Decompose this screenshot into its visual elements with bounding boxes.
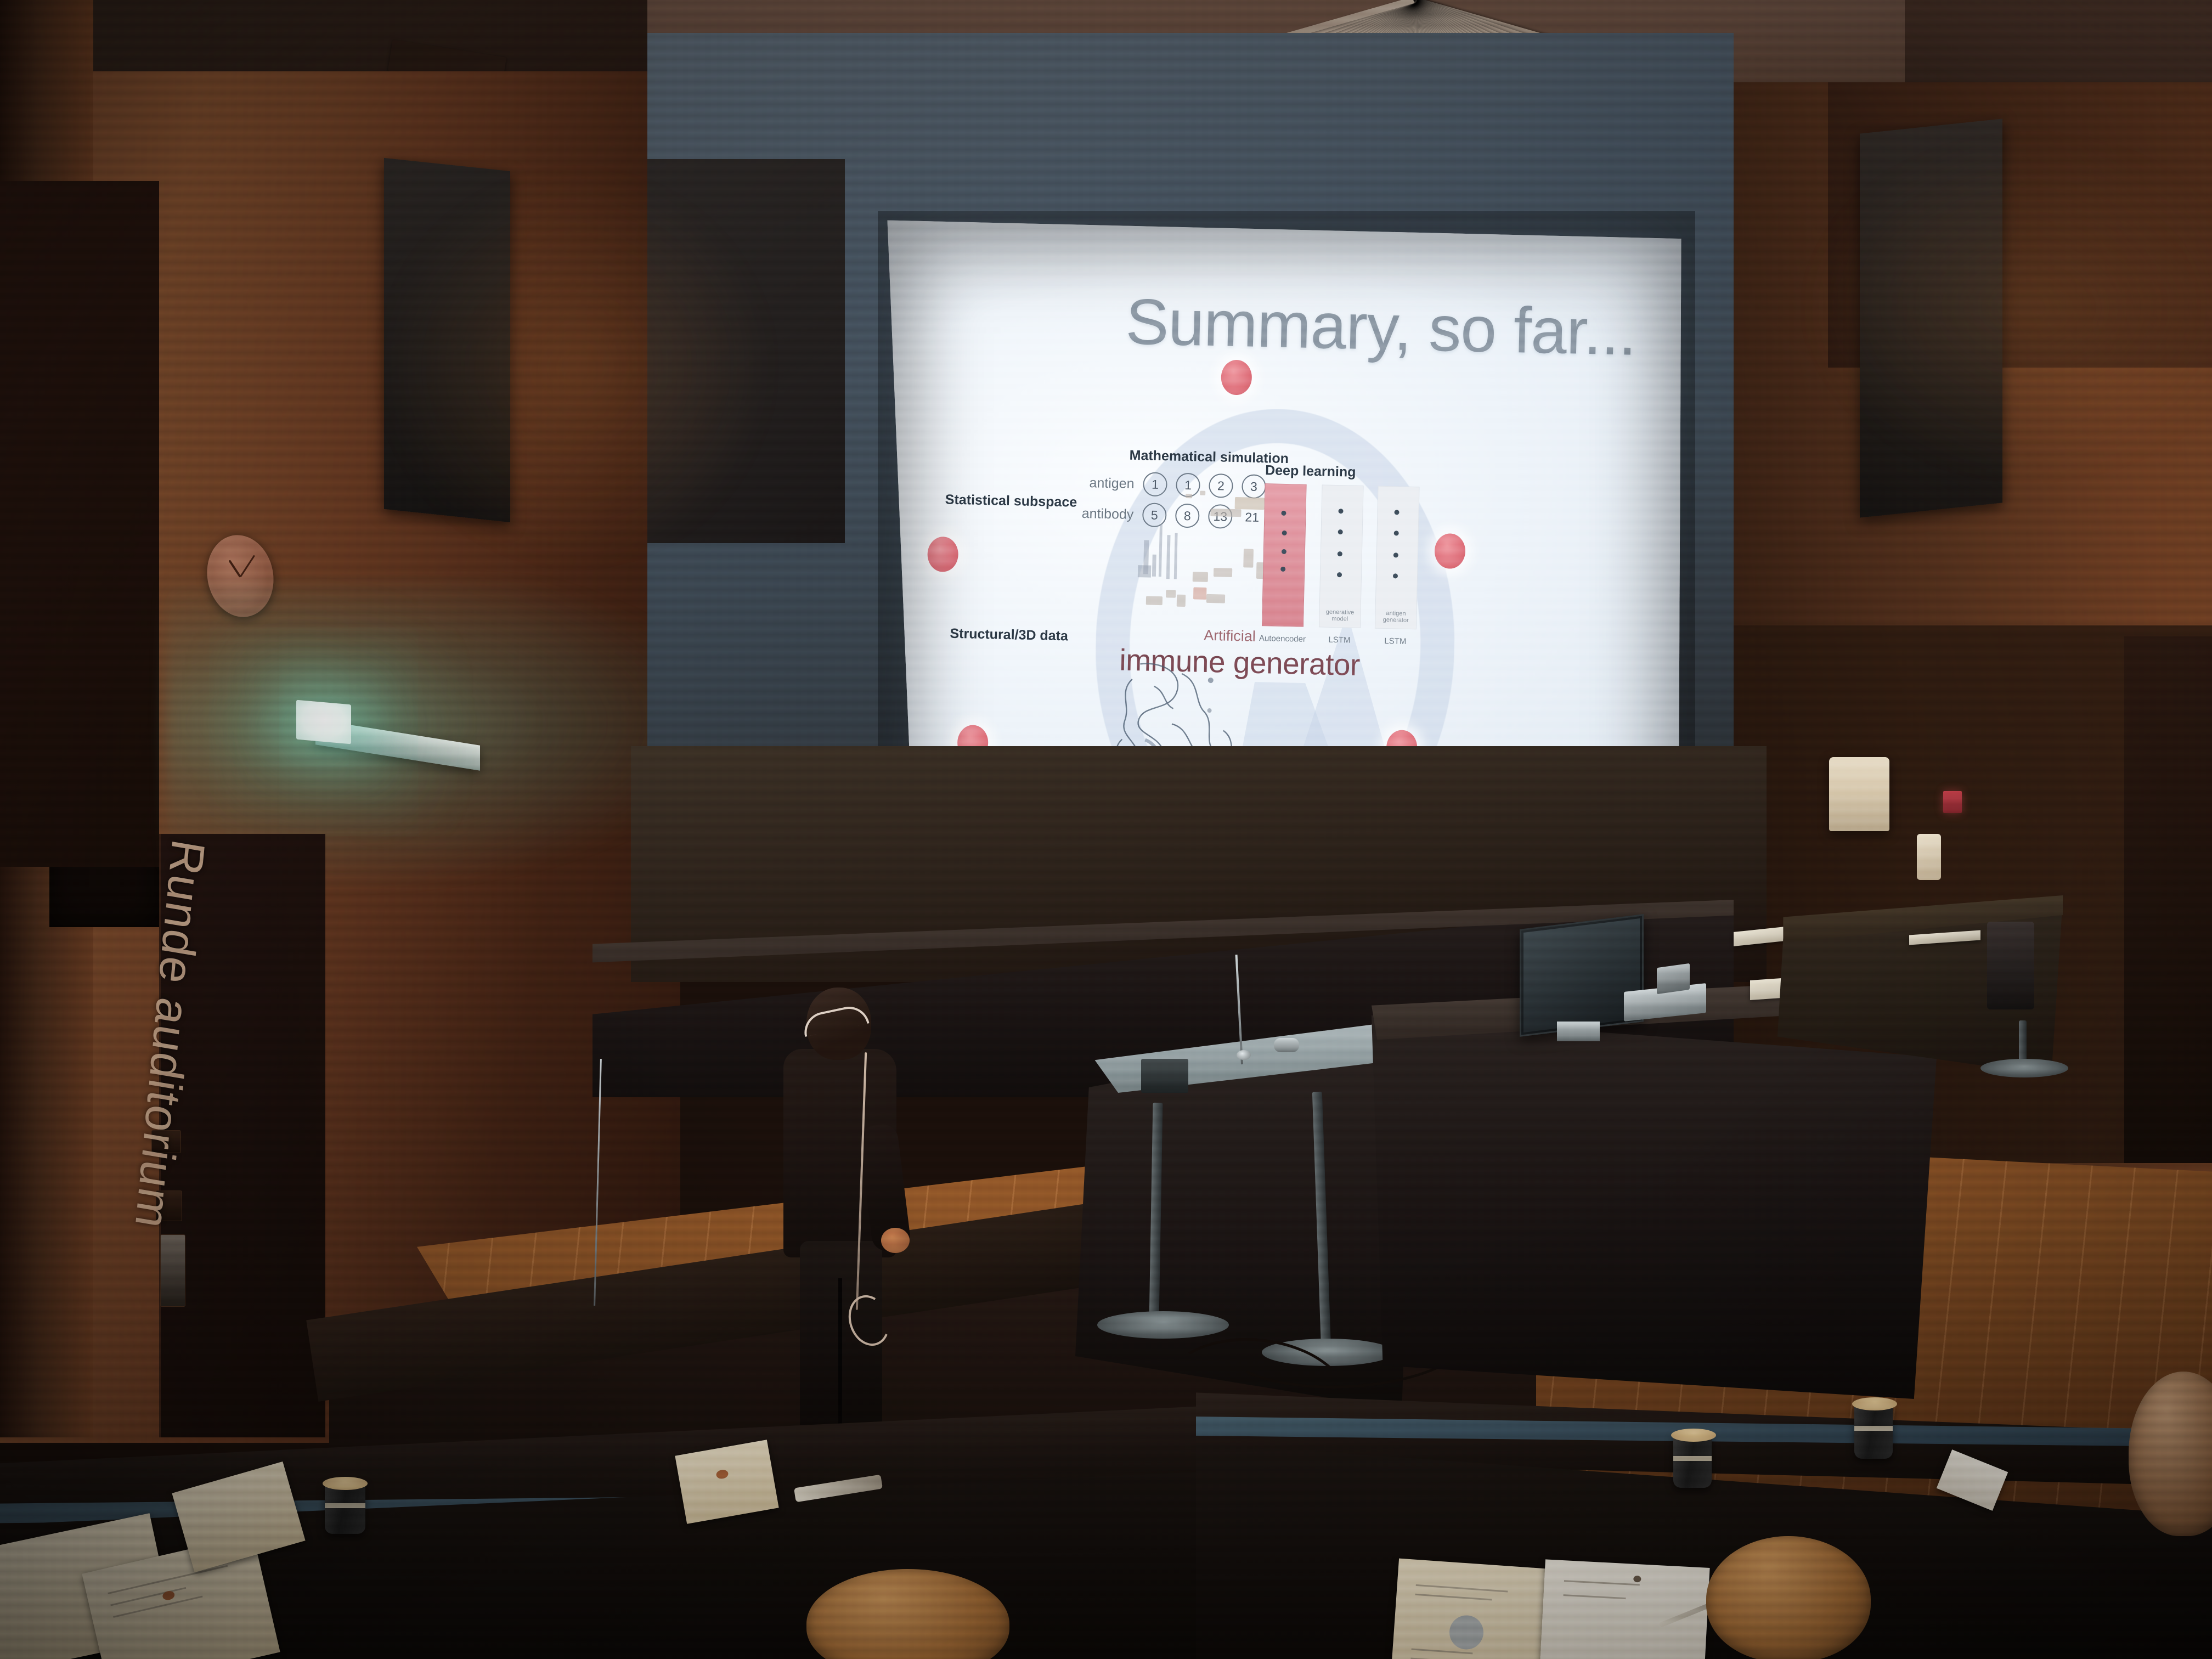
caption-deep-learning: Deep learning: [1265, 462, 1356, 481]
loudspeaker-right: [1860, 119, 2002, 517]
emergency-indicator: [1943, 791, 1962, 813]
lectern-control-box[interactable]: [1141, 1059, 1188, 1093]
coffee-cup[interactable]: [325, 1481, 365, 1534]
dl-block-autoencoder: [1262, 483, 1307, 627]
stage-dot-top: [1221, 359, 1252, 395]
coffee-cup[interactable]: [1673, 1433, 1712, 1488]
dl-block-lstm-1: generative model: [1319, 484, 1364, 628]
audience-head: [1706, 1536, 1871, 1659]
caption-structural-3d-data: Structural/3D data: [950, 626, 1068, 645]
presenter-leg-split: [838, 1278, 842, 1437]
clock-hour-hand: [228, 560, 241, 578]
monitor-stand: [1557, 1022, 1600, 1041]
dl-block-inner-label: generative model: [1319, 608, 1361, 623]
cup-rim: [323, 1477, 368, 1490]
wall-outlet-plate[interactable]: [160, 1234, 185, 1307]
simulation-row-label: antibody: [1073, 505, 1134, 522]
stage-dot-left: [927, 537, 958, 572]
simulation-row-label: antigen: [1074, 475, 1135, 492]
monitor-screen: [1523, 918, 1640, 1032]
wall-light-panel: [296, 700, 351, 744]
front-wall-panel: [647, 159, 845, 543]
computer-mouse[interactable]: [1274, 1038, 1299, 1052]
paper-handout[interactable]: [1538, 1559, 1709, 1659]
desk-device[interactable]: [1657, 963, 1690, 994]
left-wall-dark-panel: [0, 181, 159, 867]
clock-minute-hand: [240, 555, 255, 577]
paper-handout[interactable]: [1389, 1559, 1553, 1659]
hand-sanitizer-dispenser[interactable]: [1917, 834, 1941, 880]
auditorium-photo: Runde auditorium Runde auditorium Summar…: [0, 0, 2212, 1659]
presenter-hand: [881, 1228, 910, 1253]
lectern-foot: [1097, 1311, 1229, 1339]
stage-dot-right: [1434, 533, 1465, 569]
loudspeaker-left: [384, 158, 510, 522]
stool-foot: [1980, 1059, 2068, 1077]
dl-block-inner-label: antigen generator: [1375, 610, 1417, 624]
cup-band: [325, 1503, 365, 1508]
cup-rim: [1852, 1397, 1897, 1410]
cup-band: [1673, 1456, 1712, 1461]
stool[interactable]: [1987, 922, 2034, 1009]
coffee-cup[interactable]: [1854, 1402, 1893, 1459]
dl-caption-lstm-2: LSTM: [1368, 636, 1423, 646]
slide-title: Summary, so far...: [1125, 290, 1637, 365]
right-banner: [2124, 636, 2212, 1163]
presenter: [774, 988, 916, 1443]
dl-block-lstm-2: antigen generator: [1375, 486, 1420, 630]
lectern-microphone-head: [1237, 1050, 1251, 1060]
cup-rim: [1671, 1429, 1716, 1442]
paper-towel-dispenser[interactable]: [1829, 757, 1889, 831]
cup-band: [1854, 1426, 1893, 1431]
caption-statistical-subspace: Statistical subspace: [945, 492, 1077, 510]
